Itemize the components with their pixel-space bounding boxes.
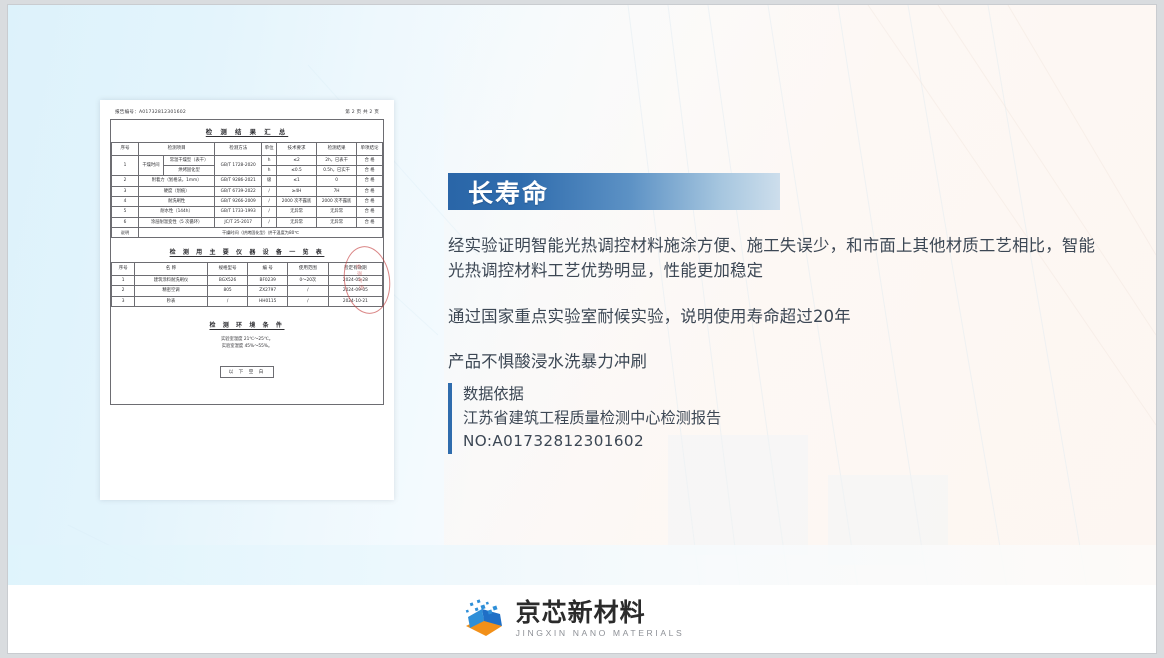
equip2-range: / <box>287 296 328 306</box>
table-row: 4 耐洗刷性 GB/T 9266-2009 / 2000 次不露底 2000 次… <box>112 197 383 207</box>
equip-col-0: 序号 <box>112 263 135 276</box>
paragraph-1: 经实验证明智能光热调控材料施涂方便、施工失误少，和市面上其他材质工艺相比，智能光… <box>448 233 1096 284</box>
row0-item-main: 干燥时间 <box>139 155 164 176</box>
equip2-valid: 2024-10-21 <box>328 296 382 306</box>
equip-col-1: 名 称 <box>135 263 207 276</box>
brand-name-en: JINGXIN NANO MATERIALS <box>516 629 685 638</box>
row2-method: GB/T 9286-2021 <box>215 176 262 186</box>
test-report-image[interactable]: 报告编号：A01732812301602 第 2 页 共 2 页 检 测 结 果… <box>100 100 394 500</box>
results-col-3: 单位 <box>262 143 277 156</box>
equip1-name: 精密空调 <box>135 286 207 296</box>
equip2-model: / <box>207 296 248 306</box>
results-col-6: 单项结论 <box>357 143 383 156</box>
brand-logo: 京芯新材料 JINGXIN NANO MATERIALS <box>460 598 685 640</box>
row6-item: 涂层耐温变性（5 次循环） <box>139 217 215 227</box>
equip0-range: 0～20次 <box>287 276 328 286</box>
equip-col-4: 使用范围 <box>287 263 328 276</box>
report-section1-title: 检 测 结 果 汇 总 <box>111 120 383 142</box>
row0-unit: h <box>262 155 277 165</box>
equip0-sn: BF0239 <box>248 276 288 286</box>
equip-col-5: 检定有效期 <box>328 263 382 276</box>
row0-conclusion: 合 格 <box>357 155 383 165</box>
table-row: 6 涂层耐温变性（5 次循环） JC/T 25-2017 / 无异常 无异常 合… <box>112 217 383 227</box>
row0-method: GB/T 1728-2020 <box>215 155 262 176</box>
data-source-number: NO:A01732812301602 <box>463 430 721 454</box>
row4-method: GB/T 9266-2009 <box>215 197 262 207</box>
row0-req: ≤2 <box>277 155 317 165</box>
equipment-table: 序号 名 称 规格型号 编 号 使用范围 检定有效期 1 建筑涂料耐洗刷仪 <box>111 262 383 307</box>
row0-result: 2h，已表干 <box>317 155 357 165</box>
slide-canvas: 报告编号：A01732812301602 第 2 页 共 2 页 检 测 结 果… <box>8 5 1156 653</box>
row3-conclusion: 合 格 <box>357 186 383 196</box>
row6-req: 无异常 <box>277 217 317 227</box>
row5-req: 无异常 <box>277 207 317 217</box>
blank-below-box: 以 下 空 白 <box>220 366 274 378</box>
row4-item: 耐洗刷性 <box>139 197 215 207</box>
row4-result: 2000 次不露底 <box>317 197 357 207</box>
equip0-name: 建筑涂料耐洗刷仪 <box>135 276 207 286</box>
row5-unit: / <box>262 207 277 217</box>
equip2-no: 3 <box>112 296 135 306</box>
data-source-block: 数据依据 江苏省建筑工程质量检测中心检测报告 NO:A0173281230160… <box>448 383 721 454</box>
results-col-1: 检测项目 <box>139 143 215 156</box>
row5-item: 耐水性（144h） <box>139 207 215 217</box>
results-col-0: 序号 <box>112 143 139 156</box>
row2-item: 附着力（划格法，1mm） <box>139 176 215 186</box>
row5-no: 5 <box>112 207 139 217</box>
equip1-no: 2 <box>112 286 135 296</box>
brand-name-cn: 京芯新材料 <box>516 600 685 625</box>
equip1-model: 805 <box>207 286 248 296</box>
background-bottom-band <box>8 545 1156 585</box>
row1-conclusion: 合 格 <box>357 165 383 175</box>
slide-footer: 京芯新材料 JINGXIN NANO MATERIALS <box>8 585 1156 653</box>
row2-conclusion: 合 格 <box>357 176 383 186</box>
table-row: 1 干燥时间 常温干燥型（表干） GB/T 1728-2020 h ≤2 2h，… <box>112 155 383 165</box>
row6-no: 6 <box>112 217 139 227</box>
row6-conclusion: 合 格 <box>357 217 383 227</box>
table-row: 2 精密空调 805 ZX2797 / 2024-09-05 <box>112 286 383 296</box>
row3-unit: / <box>262 186 277 196</box>
equip1-valid: 2024-09-05 <box>328 286 382 296</box>
equip0-no: 1 <box>112 276 135 286</box>
equip1-range: / <box>287 286 328 296</box>
page-title: 长寿命 <box>448 174 549 210</box>
row3-item: 硬度（划痕） <box>139 186 215 196</box>
report-number: 报告编号：A01732812301602 <box>115 109 186 115</box>
row1-req: ≤0.5 <box>277 165 317 175</box>
row1-unit: h <box>262 165 277 175</box>
body-text-block: 经实验证明智能光热调控材料施涂方便、施工失误少，和市面上其他材质工艺相比，智能光… <box>448 233 1108 395</box>
row3-req: ≥4H <box>277 186 317 196</box>
equip2-sn: HH0115 <box>248 296 288 306</box>
row5-result: 无异常 <box>317 207 357 217</box>
row2-req: ≤1 <box>277 176 317 186</box>
row5-method: GB/T 1733-1993 <box>215 207 262 217</box>
table-row: 2 附着力（划格法，1mm） GB/T 9286-2021 级 ≤1 0 合 格 <box>112 176 383 186</box>
table-row: 3 秒表 / HH0115 / 2024-10-21 <box>112 296 383 306</box>
row4-no: 4 <box>112 197 139 207</box>
row3-no: 3 <box>112 186 139 196</box>
table-row: 5 耐水性（144h） GB/T 1733-1993 / 无异常 无异常 合 格 <box>112 207 383 217</box>
row3-result: 7H <box>317 186 357 196</box>
report-section2-title: 检 测 用 主 要 仪 器 设 备 一 览 表 <box>111 238 383 262</box>
row5-conclusion: 合 格 <box>357 207 383 217</box>
env-line-temperature: 实验室温度 21℃～25℃。 <box>111 336 383 343</box>
report-body-frame: 检 测 结 果 汇 总 序号 检测项目 检测方法 单位 技术要求 检测结果 单项… <box>110 119 384 405</box>
row0-no: 1 <box>112 155 139 176</box>
row4-conclusion: 合 格 <box>357 197 383 207</box>
env-line-humidity: 实验室湿度 45%～55%。 <box>111 343 383 350</box>
results-col-4: 技术要求 <box>277 143 317 156</box>
results-table: 序号 检测项目 检测方法 单位 技术要求 检测结果 单项结论 1 干燥时间 <box>111 142 383 238</box>
paragraph-3: 产品不惧酸浸水洗暴力冲刷 <box>448 349 1108 374</box>
results-col-2: 检测方法 <box>215 143 262 156</box>
row2-unit: 级 <box>262 176 277 186</box>
row6-unit: / <box>262 217 277 227</box>
results-table-header-row: 序号 检测项目 检测方法 单位 技术要求 检测结果 单项结论 <box>112 143 383 156</box>
equip-col-3: 编 号 <box>248 263 288 276</box>
table-row: 1 建筑涂料耐洗刷仪 BGX526 BF0239 0～20次 2024-05-2… <box>112 276 383 286</box>
row2-no: 2 <box>112 176 139 186</box>
note-label: 说明 <box>112 228 139 238</box>
equipment-table-header-row: 序号 名 称 规格型号 编 号 使用范围 检定有效期 <box>112 263 383 276</box>
section-title-bar: 长寿命 <box>448 173 780 210</box>
data-source-label: 数据依据 <box>463 383 721 407</box>
jingxin-cube-icon <box>460 598 506 640</box>
row6-result: 无异常 <box>317 217 357 227</box>
results-note-row: 说明 干燥时间（烘烤固化型）烘干温度为80℃ <box>112 228 383 238</box>
row4-unit: / <box>262 197 277 207</box>
row1-result: 0.5h，已实干 <box>317 165 357 175</box>
row6-method: JC/T 25-2017 <box>215 217 262 227</box>
report-env-title: 检 测 环 境 条 件 <box>111 307 383 336</box>
row1-item-sub: 烘烤固化型 <box>163 165 214 175</box>
equip0-model: BGX526 <box>207 276 248 286</box>
equip1-sn: ZX2797 <box>248 286 288 296</box>
data-source-institute: 江苏省建筑工程质量检测中心检测报告 <box>463 407 721 431</box>
report-page: 第 2 页 共 2 页 <box>345 109 379 115</box>
equip2-name: 秒表 <box>135 296 207 306</box>
note-text: 干燥时间（烘烤固化型）烘干温度为80℃ <box>139 228 383 238</box>
equip-col-2: 规格型号 <box>207 263 248 276</box>
results-col-5: 检测结果 <box>317 143 357 156</box>
row3-method: GB/T 6739-2022 <box>215 186 262 196</box>
report-header: 报告编号：A01732812301602 第 2 页 共 2 页 <box>110 108 384 119</box>
table-row: 3 硬度（划痕） GB/T 6739-2022 / ≥4H 7H 合 格 <box>112 186 383 196</box>
paragraph-2: 通过国家重点实验室耐候实验，说明使用寿命超过20年 <box>448 304 1108 329</box>
row0-item-sub: 常温干燥型（表干） <box>163 155 214 165</box>
equip0-valid: 2024-05-28 <box>328 276 382 286</box>
row4-req: 2000 次不露底 <box>277 197 317 207</box>
row2-result: 0 <box>317 176 357 186</box>
